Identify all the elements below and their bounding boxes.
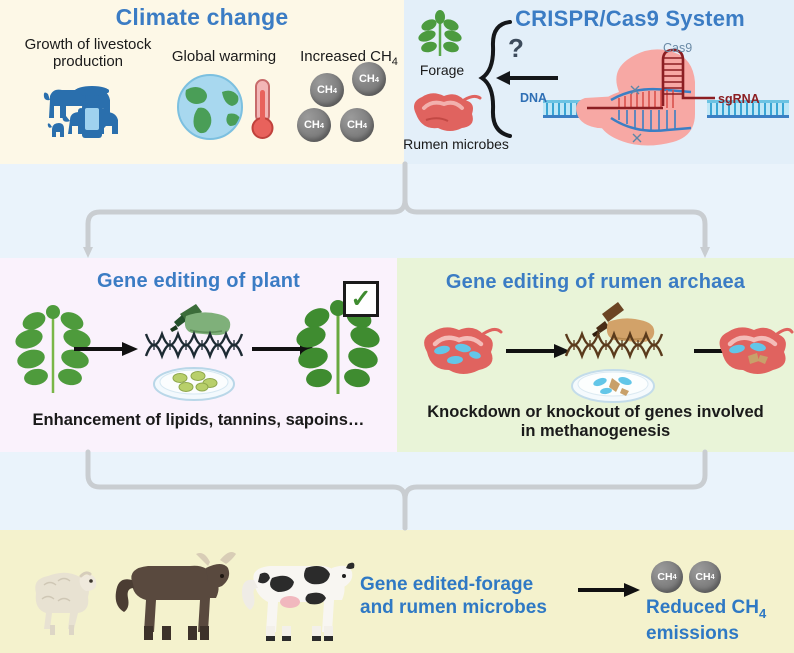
archaea-caption-line1: Knockdown or knockout of genes involved [427, 403, 763, 421]
increased-methane-sub: 4 [392, 56, 398, 68]
archaea-caption-line2: in methanogenesis [521, 422, 670, 440]
connector-band-lower [0, 452, 794, 530]
archaea-panel-title: Gene editing of rumen archaea [397, 271, 794, 294]
figure-root: Climate change Growth of livestock produ… [0, 0, 794, 653]
increased-methane-text: Increased CH [300, 48, 392, 65]
outcome-arrow [578, 582, 642, 598]
crispr-arrow-head [496, 71, 510, 85]
bull-icon [110, 546, 235, 643]
reduced-methane-bubble-1: CH4 [651, 561, 683, 593]
methane-bubble-4-label: CH [347, 119, 363, 131]
reduced-methane-bubble-2-label: CH [695, 571, 710, 583]
outcome-statement-line2: and rumen microbes [360, 597, 547, 618]
globe-thermometer-icon [174, 72, 282, 142]
methane-bubble-2-label: CH [359, 73, 375, 85]
methane-bubble-1-label: CH [317, 84, 333, 96]
outcome-result-sub: 4 [759, 606, 766, 621]
methane-bubble-3-label: CH [304, 119, 320, 131]
sgrna-label: sgRNA [718, 92, 760, 106]
reduced-methane-bubble-2: CH4 [689, 561, 721, 593]
rumen-microbe-after-icon [712, 322, 792, 378]
plant-panel-title: Gene editing of plant [0, 270, 397, 293]
check-icon: ✓ [351, 287, 372, 312]
methane-bubble-3: CH4 [297, 108, 331, 142]
reduced-methane-bubble-2-sub: 4 [711, 573, 715, 581]
sheep-icon [22, 563, 100, 641]
outcome-result: Reduced CH4 emissions [646, 596, 794, 645]
connector-band-upper [0, 164, 794, 258]
dna-label: DNA [520, 91, 547, 105]
rumen-microbes-icon [406, 88, 482, 134]
archaea-petri-dish-icon [570, 364, 656, 404]
archaea-panel-caption: Knockdown or knockout of genes involved … [397, 403, 794, 441]
increased-methane-label: Increased CH4 [296, 48, 402, 69]
global-warming-label: Global warming [154, 48, 294, 65]
methane-bubble-3-sub: 4 [320, 121, 324, 130]
outcome-result-prefix: Reduced CH [646, 597, 759, 618]
farmer-livestock-icon [40, 74, 136, 142]
climate-panel-title: Climate change [0, 4, 404, 31]
plant-approved-checkbox[interactable]: ✓ [343, 281, 379, 317]
dna-helix-icon [146, 334, 242, 356]
outcome-statement-line1: Gene edited-forage [360, 574, 533, 595]
forage-label: Forage [404, 62, 480, 78]
methane-bubble-2: CH4 [352, 62, 386, 96]
reduced-methane-bubble-1-label: CH [657, 571, 672, 583]
reduced-methane-bubble-1-sub: 4 [673, 573, 677, 581]
methane-bubble-1: CH4 [310, 73, 344, 107]
rumen-microbe-before-icon [415, 322, 501, 378]
livestock-label-line2: production [53, 53, 123, 70]
plant-panel-caption: Enhancement of lipids, tannins, sapoins… [0, 411, 397, 430]
livestock-label-line1: Growth of livestock [25, 36, 152, 53]
udder [280, 596, 300, 608]
hand-pen-dna-icon [140, 300, 260, 362]
plant-arrow-1 [74, 341, 140, 357]
methane-bubble-2-sub: 4 [375, 75, 379, 84]
outcome-statement: Gene edited-forage and rumen microbes [360, 573, 590, 619]
archaea-hand-pen-dna-icon [560, 300, 686, 364]
forage-plant-icon [414, 10, 466, 58]
petri-dish-icon [152, 362, 236, 402]
methane-bubble-1-sub: 4 [333, 86, 337, 95]
hand-pen-icon [170, 304, 230, 335]
cas9-label: Cas9 [663, 41, 692, 55]
livestock-label: Growth of livestock production [8, 36, 168, 71]
methane-bubble-4-sub: 4 [363, 121, 367, 130]
methane-bubble-4: CH4 [340, 108, 374, 142]
dairy-cow-icon [236, 548, 354, 643]
outcome-result-line2: emissions [646, 623, 739, 644]
